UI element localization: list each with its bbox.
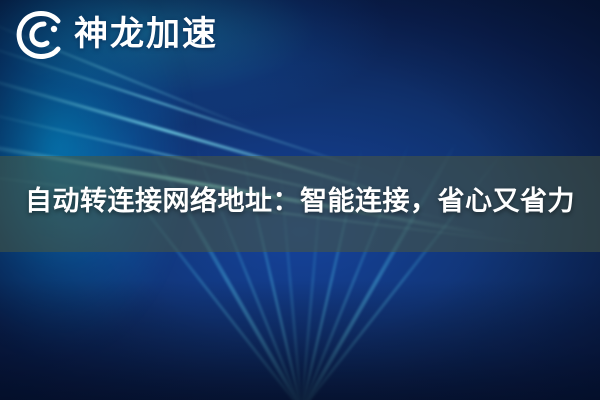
brand-name: 神龙加速 — [74, 17, 218, 51]
headline-text: 自动转连接网络地址：智能连接，省心又省力 — [3, 178, 597, 230]
headline-band: 自动转连接网络地址：智能连接，省心又省力 — [0, 156, 600, 252]
promo-banner: 神龙加速 自动转连接网络地址：智能连接，省心又省力 — [0, 0, 600, 400]
background-bottom-fade — [0, 280, 600, 400]
brand-logo: 神龙加速 — [14, 8, 218, 60]
swirl-dragon-logo-icon — [14, 8, 66, 60]
